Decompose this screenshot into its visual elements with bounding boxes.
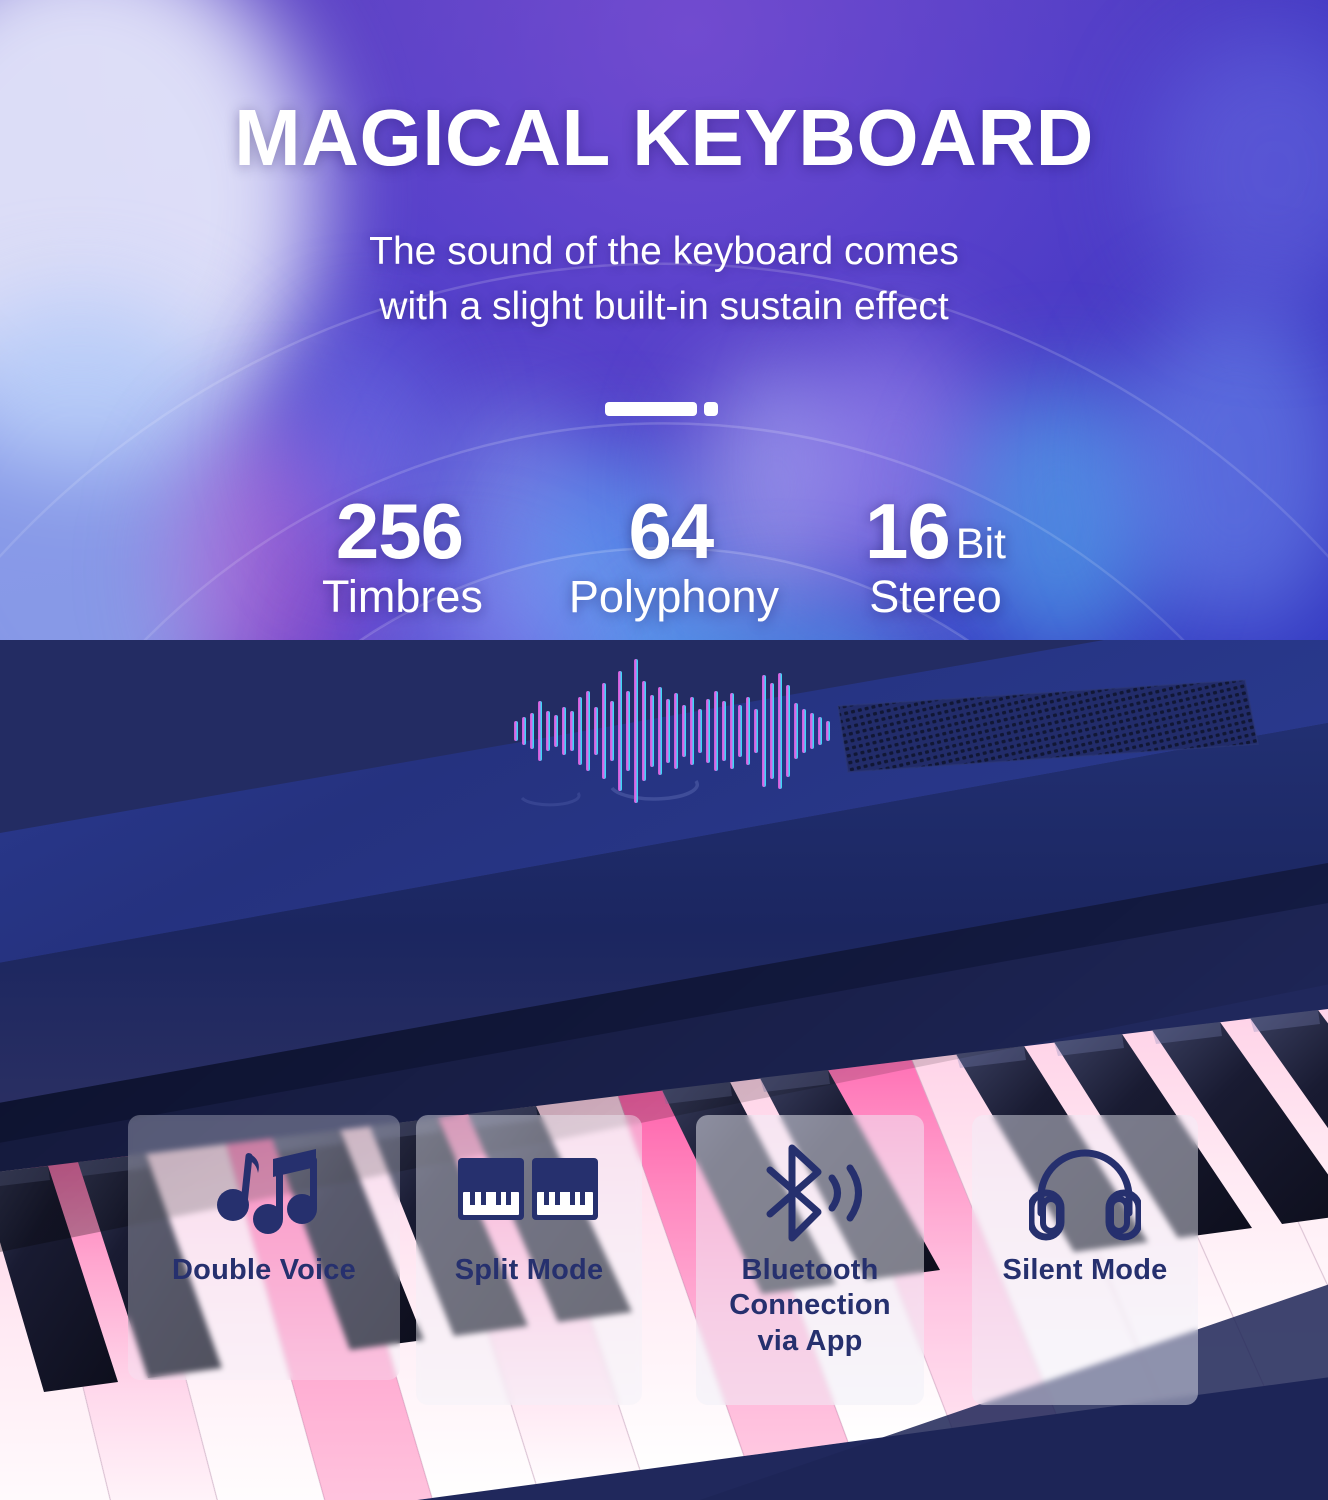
subheadline-line-2: with a slight built-in sustain effect	[0, 279, 1328, 334]
page-headline: MAGICAL KEYBOARD	[0, 98, 1328, 178]
page-subheadline: The sound of the keyboard comes with a s…	[0, 224, 1328, 335]
feature-card-bluetooth[interactable]: Bluetooth Connection via App	[696, 1115, 924, 1405]
bluetooth-label-line-1: Bluetooth	[741, 1254, 878, 1286]
feature-card-split-mode[interactable]: Split Mode	[416, 1115, 642, 1405]
bluetooth-icon	[758, 1145, 862, 1241]
music-note-icon	[210, 1145, 318, 1241]
spec-timbres-label: Timbres	[322, 573, 483, 622]
bluetooth-label-line-3: via App	[757, 1325, 862, 1357]
feature-label-split-mode: Split Mode	[455, 1253, 604, 1288]
audio-waveform	[512, 655, 832, 805]
feature-label-bluetooth: Bluetooth Connection via App	[729, 1253, 891, 1359]
feature-label-double-voice: Double Voice	[172, 1253, 356, 1288]
spec-stereo-number: 16	[865, 494, 950, 569]
feature-card-silent-mode[interactable]: Silent Mode	[972, 1115, 1198, 1405]
spec-polyphony-number: 64	[629, 494, 714, 569]
feature-cards-row: Double Voice	[0, 1115, 1328, 1415]
spec-polyphony: 64 Polyphony	[569, 494, 779, 621]
spec-stereo-label: Stereo	[865, 573, 1006, 622]
feature-label-silent-mode: Silent Mode	[1003, 1253, 1168, 1288]
product-marketing-poster: MAGICAL KEYBOARD The sound of the keyboa…	[0, 0, 1328, 1500]
headphones-icon	[1029, 1145, 1141, 1241]
feature-card-double-voice[interactable]: Double Voice	[128, 1115, 400, 1380]
spec-stereo: 16 Bit Stereo	[865, 494, 1006, 621]
spec-stats-row: 256 Timbres 64 Polyphony 16 Bit Stereo	[0, 494, 1328, 621]
subheadline-line-1: The sound of the keyboard comes	[0, 224, 1328, 279]
spec-polyphony-label: Polyphony	[569, 573, 779, 622]
split-keyboard-icon	[458, 1145, 600, 1241]
divider-dot-icon	[704, 402, 718, 416]
spec-stereo-unit: Bit	[956, 523, 1006, 566]
bluetooth-label-line-2: Connection	[729, 1289, 891, 1321]
decorative-divider	[605, 402, 718, 416]
divider-bar-icon	[605, 402, 697, 416]
spec-timbres: 256 Timbres	[322, 494, 483, 621]
spec-timbres-number: 256	[336, 494, 463, 569]
